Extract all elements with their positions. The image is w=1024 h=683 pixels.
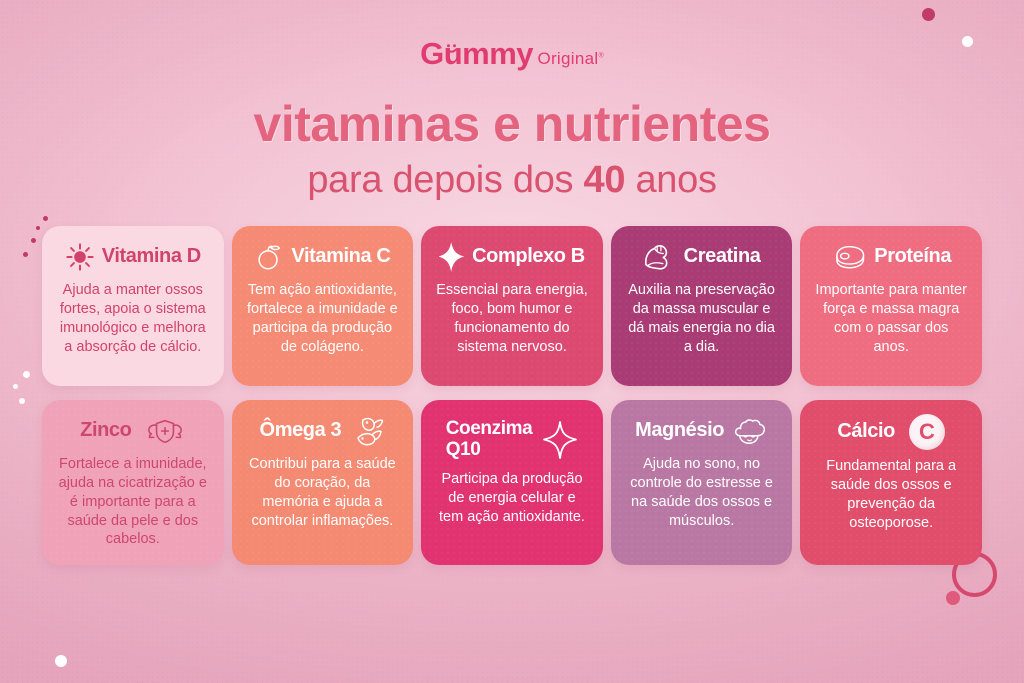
- subtitle-age: 40: [584, 159, 626, 201]
- flexed-bicep-icon: [643, 242, 677, 272]
- card-proteina[interactable]: Proteína Importante para manter força e …: [800, 226, 982, 386]
- nutrient-card-grid: Vitamina D Ajuda a manter ossos fortes, …: [42, 226, 982, 565]
- page-subtitle: para depois dos 40 anos: [0, 159, 1024, 202]
- decor-dot-accent-left-2: [31, 238, 36, 243]
- sun-icon: [65, 242, 95, 272]
- subtitle-lead: para depois dos: [307, 159, 583, 201]
- card-coenzima-q10[interactable]: Coenzima Q10 Participa da produção de en…: [421, 400, 603, 565]
- card-description: Ajuda a manter ossos fortes, apoia o sis…: [54, 281, 212, 356]
- card-description: Participa da produção de energia celular…: [433, 470, 591, 527]
- card-complexo-b[interactable]: Complexo B Essencial para energia, foco,…: [421, 226, 603, 386]
- card-description: Ajuda no sono, no controle do estresse e…: [623, 455, 781, 530]
- decor-dot-white-bottom-left: [55, 655, 67, 667]
- card-description: Fortalece a imunidade, ajuda na cicatriz…: [54, 455, 212, 549]
- card-title: Proteína: [874, 246, 951, 268]
- card-description: Importante para manter força e massa mag…: [812, 281, 970, 356]
- decor-dot-accent-left-4: [36, 226, 40, 230]
- decor-dot-white-left-2: [13, 384, 18, 389]
- brand-logo: Gummy Original®: [420, 38, 604, 69]
- card-header: Vitamina D: [54, 240, 212, 274]
- orange-fruit-icon: [254, 242, 284, 272]
- card-title: Ômega 3: [260, 420, 342, 442]
- card-description: Essencial para energia, foco, bom humor …: [433, 281, 591, 356]
- sleeping-cloud-icon: [732, 416, 768, 446]
- card-header: Coenzima Q10: [433, 414, 591, 466]
- card-header: Magnésio: [623, 414, 781, 448]
- card-title: Vitamina D: [102, 246, 201, 268]
- brand-tagline-wrapper: Original®: [537, 50, 603, 67]
- decor-dot-accent-bottom-right: [946, 591, 960, 605]
- card-title: Vitamina C: [291, 246, 390, 268]
- smiley-face-icon: [444, 42, 459, 57]
- registered-mark: ®: [598, 52, 603, 59]
- card-header: Ômega 3: [244, 414, 402, 448]
- card-description: Contribui para a saúde do coração, da me…: [244, 455, 402, 530]
- card-header: Complexo B: [433, 240, 591, 274]
- card-header: Cálcio C: [812, 414, 970, 450]
- card-header: Zinco: [54, 414, 212, 448]
- decor-dot-accent-left-1: [43, 216, 48, 221]
- immunity-shield-icon: [145, 416, 185, 446]
- card-omega-3[interactable]: Ômega 3 Contribui para a saúde do coraçã…: [232, 400, 414, 565]
- card-description: Auxilia na preservação da massa muscular…: [623, 281, 781, 356]
- steak-icon: [831, 243, 867, 271]
- calcium-pill-icon: C: [909, 414, 945, 450]
- sparkle-icon: [439, 241, 469, 273]
- card-calcio[interactable]: Cálcio C Fundamental para a saúde dos os…: [800, 400, 982, 565]
- decor-dot-white-left-3: [19, 398, 25, 404]
- header: Gummy Original® vitaminas e nutrientes p…: [0, 0, 1024, 202]
- card-title: Zinco: [80, 420, 131, 442]
- card-title: Cálcio: [837, 421, 895, 443]
- brand-tagline: Original: [537, 49, 598, 68]
- brand-name: Gummy: [420, 36, 533, 71]
- page-title: vitaminas e nutrientes: [0, 95, 1024, 153]
- subtitle-tail: anos: [625, 159, 716, 201]
- card-header: Proteína: [812, 240, 970, 274]
- card-vitamina-c[interactable]: Vitamina C Tem ação antioxidante, fortal…: [232, 226, 414, 386]
- four-point-star-icon: [542, 420, 578, 460]
- card-title: Complexo B: [472, 246, 585, 268]
- card-magnesio[interactable]: Magnésio Ajuda no sono, no controle do e…: [611, 400, 793, 565]
- brand-name-wrapper: Gummy: [420, 38, 533, 69]
- card-header: Creatina: [623, 240, 781, 274]
- decor-dot-white-left-1: [23, 371, 30, 378]
- decor-dot-accent-left-3: [23, 252, 28, 257]
- card-title: Creatina: [684, 246, 761, 268]
- fish-icon: [351, 414, 385, 448]
- card-header: Vitamina C: [244, 240, 402, 274]
- card-zinco[interactable]: Zinco Fortalece a imunidade, ajuda na ci…: [42, 400, 224, 565]
- card-creatina[interactable]: Creatina Auxilia na preservação da massa…: [611, 226, 793, 386]
- card-title: Magnésio: [635, 420, 724, 442]
- card-description: Fundamental para a saúde dos ossos e pre…: [812, 457, 970, 532]
- card-description: Tem ação antioxidante, fortalece a imuni…: [244, 281, 402, 356]
- card-vitamina-d[interactable]: Vitamina D Ajuda a manter ossos fortes, …: [42, 226, 224, 386]
- card-title: Coenzima Q10: [446, 419, 533, 460]
